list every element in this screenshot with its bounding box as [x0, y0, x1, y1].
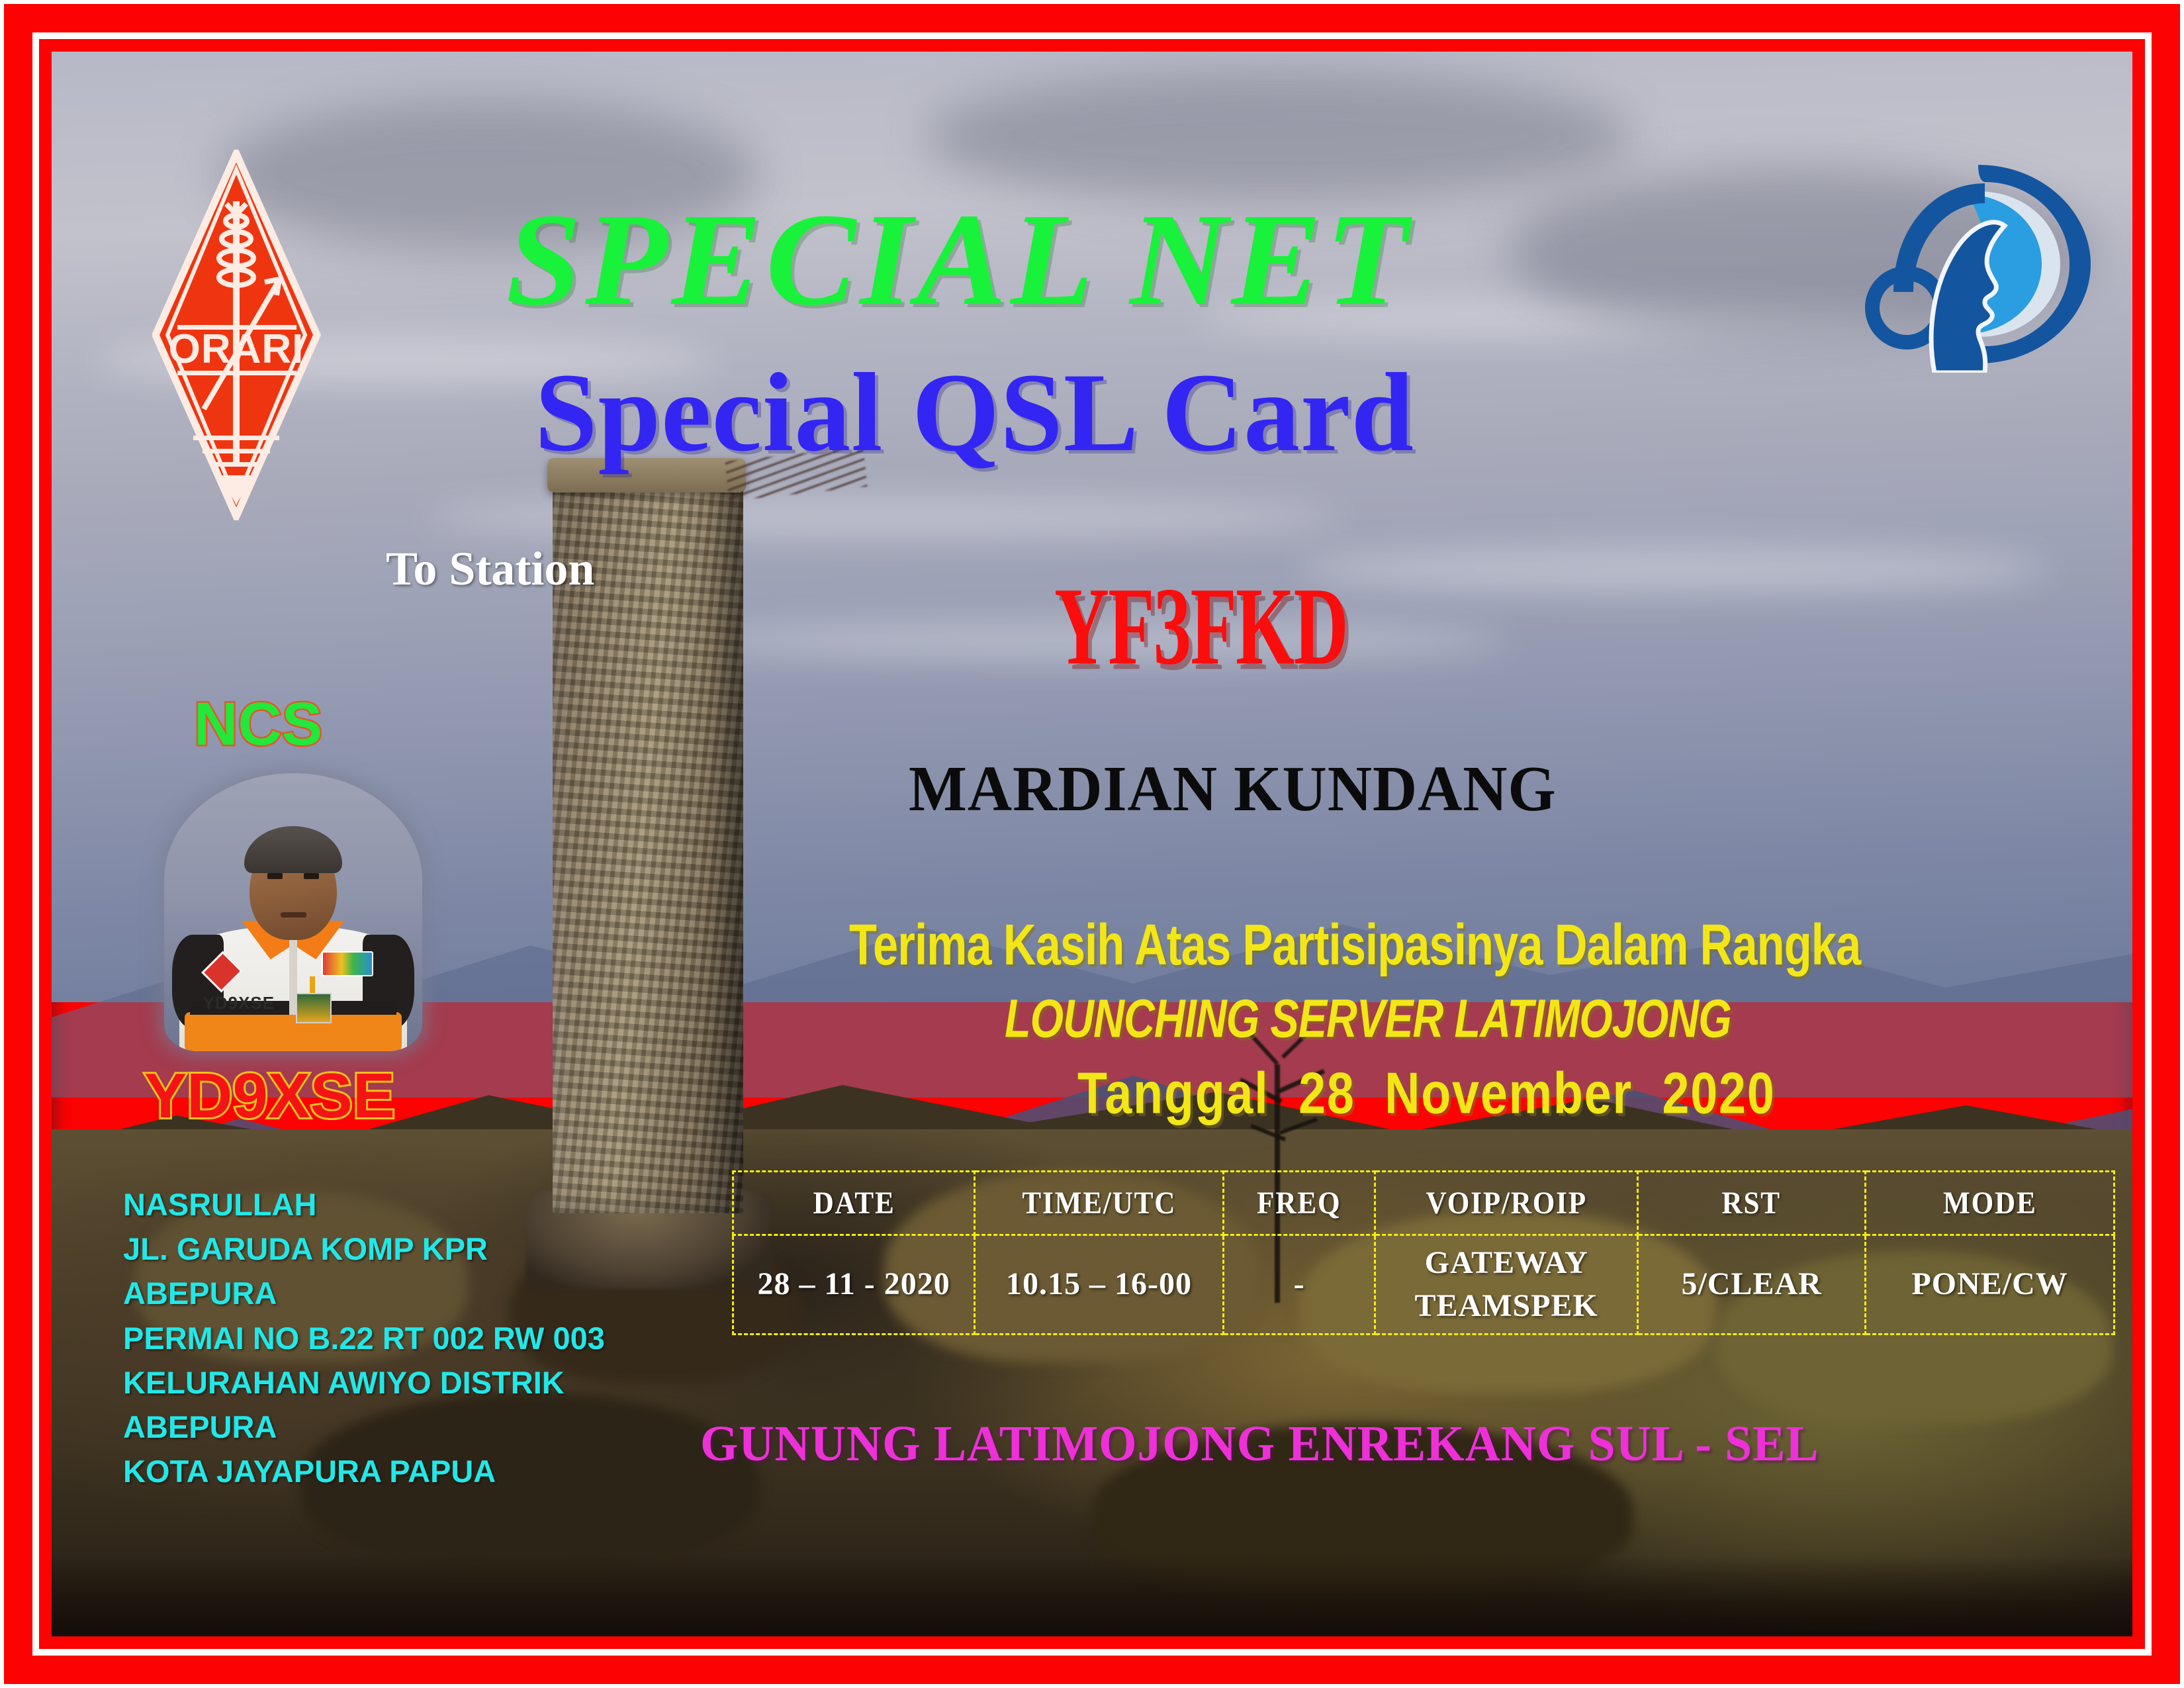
orari-logo-text: ORARI — [169, 326, 304, 372]
table-header-date: DATE — [745, 1172, 963, 1235]
cell-rst: 5/CLEAR — [1637, 1235, 1865, 1335]
table-header-rst: RST — [1649, 1172, 1854, 1235]
headset-face-logo — [1855, 154, 2107, 373]
shirt-id-badge — [296, 993, 332, 1023]
ncs-role-label: NCS — [194, 694, 322, 755]
page-title-special-net: SPECIAL NET — [506, 194, 1412, 326]
thanks-line-2-event: LOUNCHING SERVER LATIMOJONG — [1005, 992, 1731, 1046]
table-header-mode: MODE — [1878, 1172, 2102, 1235]
orari-logo: ORARI — [152, 150, 321, 520]
table-header-time-utc: TIME/UTC — [987, 1172, 1211, 1235]
page-subtitle-qsl-card: Special QSL Card — [535, 356, 1414, 469]
web-address-line: Address : amatir.latimojong.com — [1321, 1636, 2064, 1636]
shirt-club-patch — [322, 951, 373, 976]
recipient-operator-name: MARDIAN KUNDANG — [909, 757, 1557, 821]
ncs-address-block: NASRULLAH JL. GARUDA KOMP KPR ABEPURA PE… — [123, 1182, 605, 1493]
table-row: 28 – 11 - 2020 10.15 – 16-00 - GATEWAY T… — [733, 1235, 2115, 1335]
ncs-operator-photo: YD9XSE — [164, 773, 422, 1051]
qsl-card: ORARI — [0, 0, 2184, 1688]
cell-time-utc: 10.15 – 16-00 — [975, 1235, 1224, 1335]
recipient-callsign: YF3FKD — [1054, 571, 1347, 682]
cell-voip-roip: GATEWAY TEAMSPEK — [1375, 1235, 1638, 1335]
thanks-line-3-date: Tanggal 28 November 2020 — [1077, 1064, 1776, 1123]
thanks-line-1: Terima Kasih Atas Partisipasinya Dalam R… — [849, 915, 1860, 973]
qso-details-table: DATE TIME/UTC FREQ VOIP/ROIP RST MODE 28… — [732, 1170, 2115, 1335]
table-header-voip-roip: VOIP/ROIP — [1388, 1172, 1625, 1235]
table-header-row: DATE TIME/UTC FREQ VOIP/ROIP RST MODE — [733, 1172, 2115, 1235]
cell-mode: PONE/CW — [1866, 1235, 2115, 1335]
table-header-freq: FREQ — [1231, 1172, 1368, 1235]
cell-freq: - — [1223, 1235, 1375, 1335]
background-photo: ORARI — [52, 52, 2132, 1636]
ncs-callsign: YD9XSE — [144, 1064, 395, 1128]
cell-date: 28 – 11 - 2020 — [733, 1235, 975, 1335]
shirt-callsign-text: YD9XSE — [203, 993, 275, 1013]
location-line: GUNUNG LATIMOJONG ENREKANG SUL - SEL — [700, 1419, 1819, 1469]
to-station-label: To Station — [386, 545, 594, 592]
